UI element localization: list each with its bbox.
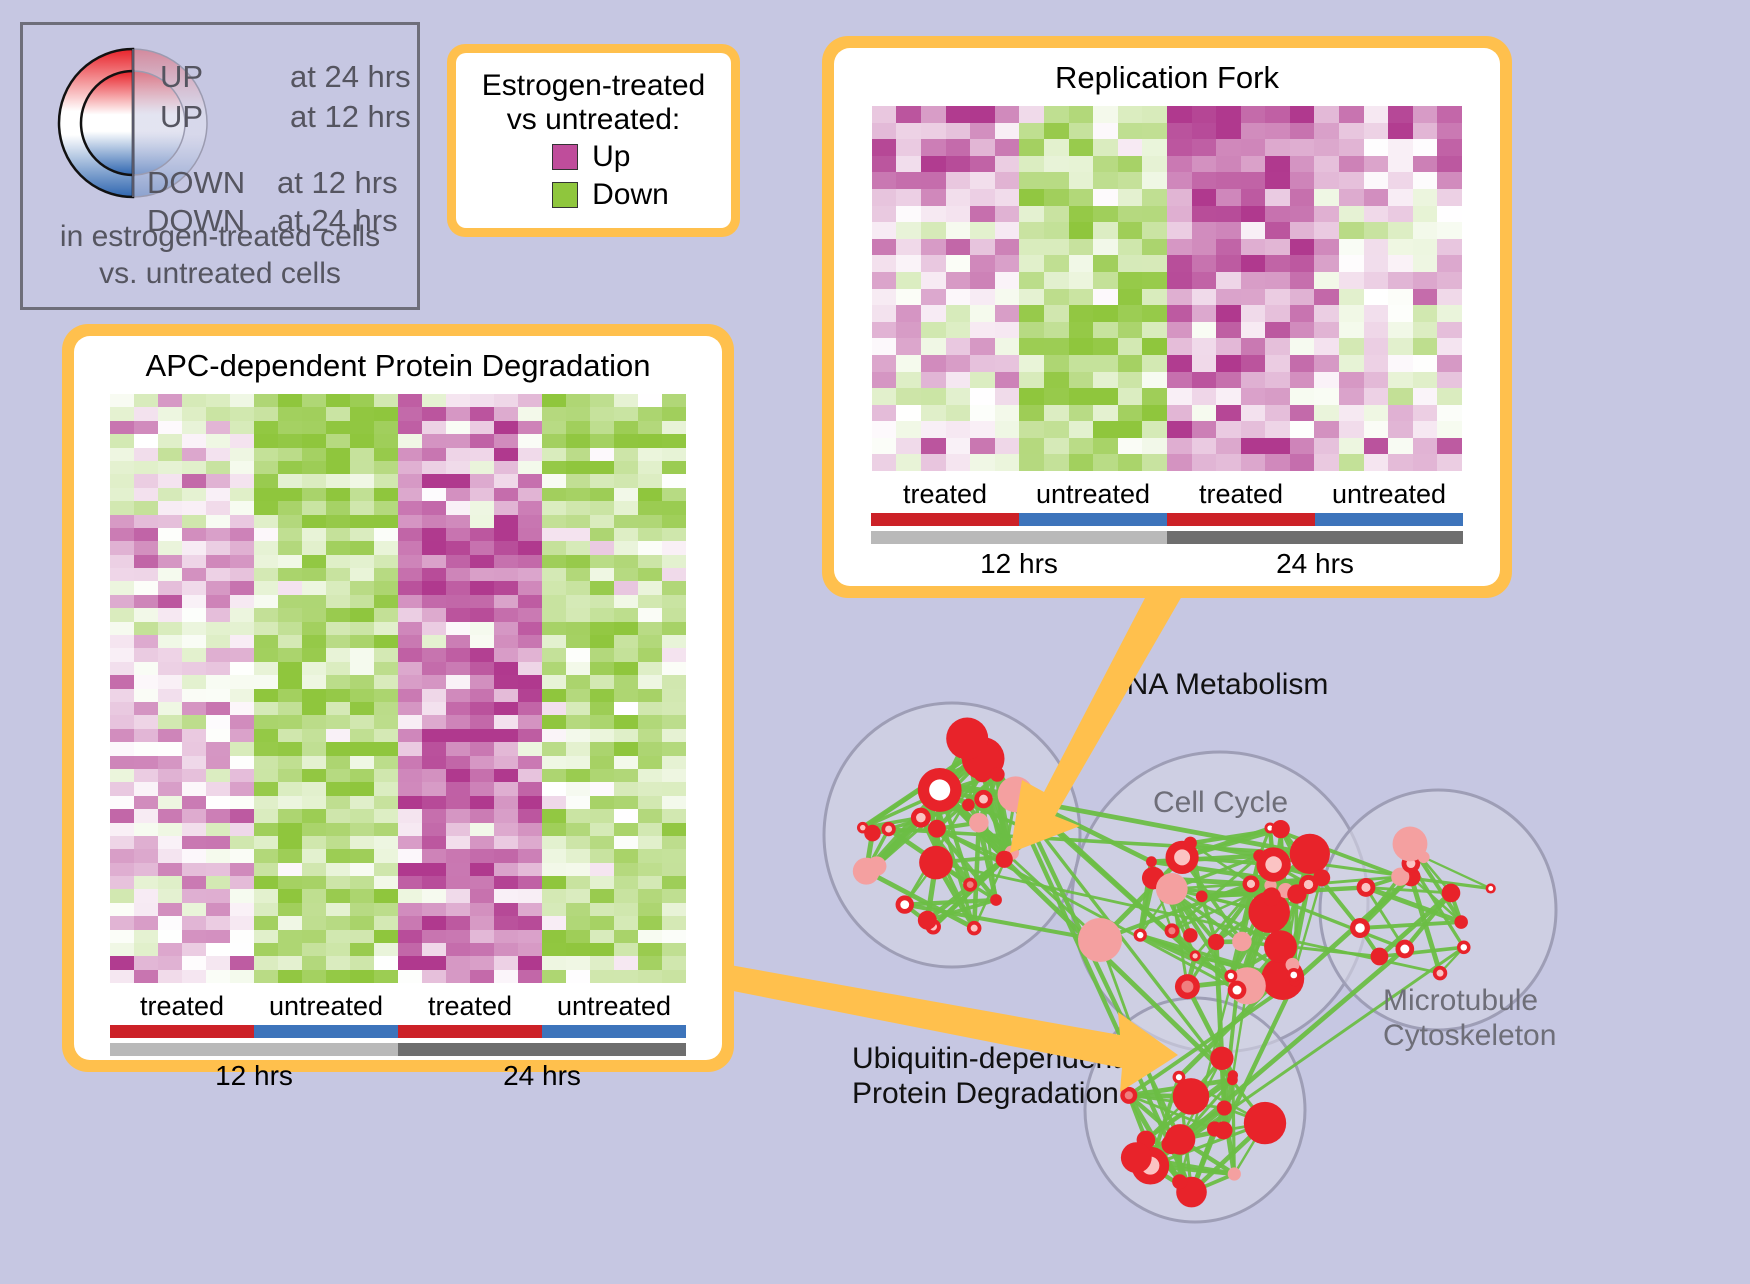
network-node: [1156, 873, 1188, 905]
heatmap-cell: [1437, 106, 1462, 123]
heatmap-cell: [590, 849, 614, 862]
heatmap-cell: [518, 943, 542, 956]
heatmap-cell: [422, 742, 446, 755]
heatmap-cell: [278, 742, 302, 755]
heatmap-cell: [1118, 172, 1143, 189]
heatmap-cell: [158, 956, 182, 969]
heatmap-cell: [350, 394, 374, 407]
heatmap-cell: [374, 782, 398, 795]
heatmap-cell: [1364, 355, 1389, 372]
heatmap-cell: [230, 916, 254, 929]
heatmap-cell: [158, 421, 182, 434]
heatmap-cell: [614, 729, 638, 742]
heatmap-cell: [374, 635, 398, 648]
heatmap-cell: [278, 394, 302, 407]
heatmap-cell: [1339, 172, 1364, 189]
heatmap-cell: [446, 648, 470, 661]
heatmap-cell: [302, 648, 326, 661]
heatmap-cell: [374, 622, 398, 635]
heatmap-cell: [230, 729, 254, 742]
heatmap-cell: [230, 836, 254, 849]
heatmap-cell: [896, 272, 921, 289]
heatmap-cell: [1142, 255, 1167, 272]
heatmap-cell: [422, 836, 446, 849]
heatmap-cell: [422, 515, 446, 528]
heatmap-cell: [350, 889, 374, 902]
heatmap-cell: [1364, 305, 1389, 322]
heatmap-cell: [158, 595, 182, 608]
heatmap-cell: [182, 635, 206, 648]
heatmap-cell: [590, 448, 614, 461]
heatmap-cell: [374, 956, 398, 969]
heatmap-cell: [278, 662, 302, 675]
heatmap-cell: [566, 836, 590, 849]
heatmap-cell: [254, 729, 278, 742]
network-node: [1262, 887, 1281, 906]
heatmap-cell: [518, 849, 542, 862]
heatmap-cell: [995, 123, 1020, 140]
heatmap-cell: [110, 541, 134, 554]
heatmap-cell: [302, 689, 326, 702]
heatmap-cell: [494, 729, 518, 742]
heatmap-cell: [1093, 305, 1118, 322]
heatmap-cell: [278, 675, 302, 688]
heatmap-cell: [446, 501, 470, 514]
heatmap-cell: [1044, 123, 1069, 140]
heatmap-cell: [1265, 139, 1290, 156]
heatmap-cell: [1118, 388, 1143, 405]
heatmap-cell: [1069, 454, 1094, 471]
heatmap-cell: [278, 930, 302, 943]
heatmap-cell: [1216, 289, 1241, 306]
heatmap-cell: [374, 729, 398, 742]
heatmap-cell: [302, 581, 326, 594]
heatmap-cell: [566, 461, 590, 474]
heatmap-cell: [230, 863, 254, 876]
heatmap-cell: [1167, 421, 1192, 438]
heatmap-cell: [872, 338, 897, 355]
heatmap-cell: [326, 823, 350, 836]
heatmap-cell: [230, 407, 254, 420]
heatmap-cell: [374, 849, 398, 862]
heatmap-cell: [446, 756, 470, 769]
heatmap-cell: [1142, 305, 1167, 322]
heatmap-cell: [542, 916, 566, 929]
heatmap-cell: [134, 742, 158, 755]
heatmap-cell: [422, 434, 446, 447]
heatmap-cell: [422, 662, 446, 675]
heatmap-cell: [230, 823, 254, 836]
heatmap-cell: [134, 823, 158, 836]
heatmap-cell: [1265, 421, 1290, 438]
heatmap-cell: [1388, 206, 1413, 223]
heatmap-cell: [1339, 322, 1364, 339]
heatmap-cell: [494, 541, 518, 554]
heatmap-cell: [1437, 206, 1462, 223]
heatmap-cell: [278, 421, 302, 434]
heatmap-cell: [398, 970, 422, 983]
heatmap-cell: [230, 648, 254, 661]
heatmap-cell: [614, 782, 638, 795]
heatmap-cell: [1167, 255, 1192, 272]
heatmap-cell: [374, 675, 398, 688]
heatmap-cell: [134, 689, 158, 702]
heatmap-cell: [1069, 222, 1094, 239]
heatmap-cell: [1265, 338, 1290, 355]
heatmap-cell: [518, 956, 542, 969]
heatmap-cell: [470, 916, 494, 929]
heatmap-cell: [110, 715, 134, 728]
heatmap-cell: [350, 448, 374, 461]
heatmap-cell: [494, 689, 518, 702]
heatmap-cell: [1167, 305, 1192, 322]
heatmap-cell: [422, 407, 446, 420]
heatmap-cell: [921, 189, 946, 206]
heatmap-cell: [1118, 123, 1143, 140]
heatmap-cell: [518, 836, 542, 849]
heatmap-cell: [494, 581, 518, 594]
heatmap-cell: [158, 635, 182, 648]
heatmap-cell: [302, 756, 326, 769]
network-node: [1217, 1100, 1232, 1115]
heatmap-cell: [350, 943, 374, 956]
heatmap-cell: [398, 581, 422, 594]
heatmap-cell: [1192, 405, 1217, 422]
heatmap-cell: [374, 407, 398, 420]
heatmap-cell: [158, 889, 182, 902]
heatmap-cell: [254, 943, 278, 956]
heatmap-cell: [422, 729, 446, 742]
heatmap-cell: [946, 355, 971, 372]
time-label: 24 hrs: [1167, 548, 1463, 580]
heatmap-cell: [590, 916, 614, 929]
heatmap-cell: [254, 488, 278, 501]
heatmap-cell: [1118, 222, 1143, 239]
heatmap-cell: [254, 608, 278, 621]
heatmap-cell: [638, 568, 662, 581]
heatmap-cell: [638, 407, 662, 420]
heatmap-cell: [896, 189, 921, 206]
heatmap-cell: [182, 756, 206, 769]
heatmap-cell: [134, 488, 158, 501]
heatmap-cell: [590, 943, 614, 956]
heatmap-cell: [1339, 305, 1364, 322]
heatmap-cell: [1167, 454, 1192, 471]
heatmap-cell: [494, 715, 518, 728]
heatmap-cell: [374, 796, 398, 809]
heatmap-cell: [1216, 239, 1241, 256]
heatmap-cell: [946, 454, 971, 471]
network-node: [1146, 856, 1157, 867]
heatmap-cell: [970, 156, 995, 173]
heatmap-cell: [1437, 255, 1462, 272]
heatmap-cell: [970, 106, 995, 123]
heatmap-cell: [1142, 355, 1167, 372]
heatmap-cell: [638, 662, 662, 675]
heatmap-cell: [1241, 454, 1266, 471]
heatmap-cell: [134, 407, 158, 420]
heatmap-cell: [614, 916, 638, 929]
heatmap-cell: [470, 876, 494, 889]
heatmap-cell: [158, 608, 182, 621]
heatmap-cell: [1142, 372, 1167, 389]
heatmap-cell: [350, 782, 374, 795]
network-node-core: [1304, 880, 1313, 889]
heatmap-cell: [1216, 156, 1241, 173]
heatmap-cell: [1314, 388, 1339, 405]
heatmap-cell: [302, 662, 326, 675]
heatmap-cell: [302, 889, 326, 902]
heatmap-cell: [662, 421, 686, 434]
heatmap-cell: [326, 702, 350, 715]
heatmap-cell: [230, 448, 254, 461]
heatmap-cell: [350, 501, 374, 514]
heatmap-cell: [1364, 123, 1389, 140]
heatmap-cell: [302, 622, 326, 635]
heatmap-cell: [422, 461, 446, 474]
heatmap-cell: [614, 903, 638, 916]
heatmap-cell: [374, 595, 398, 608]
heatmap-cell: [872, 239, 897, 256]
heatmap-cell: [1437, 355, 1462, 372]
heatmap-cell: [590, 555, 614, 568]
heatmap-cell: [182, 916, 206, 929]
heatmap-cell: [590, 836, 614, 849]
heatmap-cell: [1044, 305, 1069, 322]
heatmap-cell: [278, 568, 302, 581]
heatmap-cell: [1265, 289, 1290, 306]
heatmap-cell: [254, 916, 278, 929]
heatmap-cell: [970, 289, 995, 306]
heatmap-cell: [1413, 305, 1438, 322]
network-node-core: [1233, 986, 1242, 995]
heatmap-cell: [470, 742, 494, 755]
heatmap-cell: [350, 461, 374, 474]
heatmap-cell: [1314, 405, 1339, 422]
panel-title: APC-dependent Protein Degradation: [146, 348, 651, 384]
heatmap-cell: [326, 528, 350, 541]
heatmap-cell: [1388, 222, 1413, 239]
heatmap-cell: [1314, 421, 1339, 438]
heatmap-cell: [542, 581, 566, 594]
heatmap-cell: [1118, 289, 1143, 306]
heatmap-cell: [1167, 338, 1192, 355]
heatmap-cell: [1265, 156, 1290, 173]
heatmap-cell: [134, 756, 158, 769]
heatmap-cell: [470, 729, 494, 742]
heatmap-cell: [1093, 372, 1118, 389]
heatmap-cell: [638, 541, 662, 554]
heatmap-cell: [494, 702, 518, 715]
heatmap-cell: [946, 289, 971, 306]
heatmap-cell: [494, 394, 518, 407]
heatmap-cell: [134, 916, 158, 929]
heatmap-cell: [350, 608, 374, 621]
heatmap-cell: [182, 956, 206, 969]
heatmap-cell: [206, 675, 230, 688]
heatmap-cell: [921, 388, 946, 405]
heatmap-cell: [1364, 156, 1389, 173]
heatmap-cell: [206, 581, 230, 594]
heatmap-cell: [398, 501, 422, 514]
heatmap-axis: treated untreated treated untreated 12 h…: [110, 991, 686, 1092]
heatmap-cell: [1413, 222, 1438, 239]
heatmap-cell: [182, 461, 206, 474]
heatmap-cell: [494, 876, 518, 889]
heatmap-cell: [182, 515, 206, 528]
heatmap-cell: [230, 515, 254, 528]
heatmap-cell: [494, 916, 518, 929]
heatmap-cell: [494, 769, 518, 782]
network-node-core: [1361, 883, 1370, 892]
heatmap-cell: [566, 715, 590, 728]
heatmap-cell: [518, 876, 542, 889]
heatmap-cell: [206, 930, 230, 943]
heatmap-cell: [158, 581, 182, 594]
heatmap-cell: [896, 156, 921, 173]
heatmap-cell: [182, 782, 206, 795]
heatmap-cell: [1019, 222, 1044, 239]
heatmap-cell: [446, 863, 470, 876]
heatmap-cell: [254, 648, 278, 661]
heatmap-cell: [470, 956, 494, 969]
heatmap-cell: [110, 863, 134, 876]
heatmap-cell: [1118, 272, 1143, 289]
heatmap-cell: [254, 675, 278, 688]
network-node: [1196, 891, 1208, 903]
heatmap-cell: [398, 394, 422, 407]
heatmap-cell: [254, 876, 278, 889]
heatmap-cell: [872, 305, 897, 322]
heatmap-cell: [326, 421, 350, 434]
network-node-core: [1400, 945, 1409, 954]
heatmap-cell: [470, 608, 494, 621]
heatmap-cell: [422, 782, 446, 795]
down-swatch-icon: [552, 182, 578, 208]
heatmap-cell: [1019, 454, 1044, 471]
heatmap-cell: [1216, 322, 1241, 339]
heatmap-cell: [254, 662, 278, 675]
heatmap-cell: [158, 863, 182, 876]
heatmap-cell: [662, 595, 686, 608]
heatmap-cell: [566, 742, 590, 755]
heatmap-cell: [110, 970, 134, 983]
heatmap-cell: [134, 635, 158, 648]
heatmap-cell: [946, 156, 971, 173]
heatmap-cell: [995, 189, 1020, 206]
heatmap-cell: [1044, 289, 1069, 306]
heatmap-cell: [302, 916, 326, 929]
heatmap-cell: [254, 581, 278, 594]
heatmap-cell: [946, 206, 971, 223]
heatmap-cell: [1290, 123, 1315, 140]
heatmap-cell: [1388, 172, 1413, 189]
heatmap-cell: [872, 322, 897, 339]
heatmap-cell: [422, 608, 446, 621]
heatmap-cell: [1093, 189, 1118, 206]
heatmap-cell: [872, 189, 897, 206]
heatmap-cell: [374, 863, 398, 876]
heatmap-cell: [1192, 388, 1217, 405]
heatmap-cell: [1019, 123, 1044, 140]
heatmap-cell: [182, 501, 206, 514]
heatmap-cell: [398, 421, 422, 434]
heatmap-cell: [1437, 272, 1462, 289]
heatmap-cell: [1044, 206, 1069, 223]
network-node: [1228, 1167, 1241, 1180]
heatmap-cell: [1093, 172, 1118, 189]
heatmap-cell: [158, 434, 182, 447]
heatmap-cell: [590, 501, 614, 514]
heatmap-cell: [422, 863, 446, 876]
heatmap-cell: [542, 568, 566, 581]
heatmap-cell: [518, 541, 542, 554]
heatmap-cell: [542, 943, 566, 956]
heatmap-cell: [1413, 189, 1438, 206]
network-node: [928, 820, 946, 838]
heatmap-cell: [1241, 388, 1266, 405]
heatmap-cell: [638, 501, 662, 514]
heatmap-cell: [1314, 272, 1339, 289]
heatmap-cell: [470, 930, 494, 943]
heatmap-cell: [134, 528, 158, 541]
network-node: [1173, 1078, 1210, 1115]
legend-item-down: Down: [552, 178, 669, 212]
heatmap-cell: [1437, 322, 1462, 339]
heatmap-cell: [1364, 372, 1389, 389]
heatmap-cell: [518, 568, 542, 581]
heatmap-cell: [158, 622, 182, 635]
heatmap-cell: [542, 702, 566, 715]
heatmap-cell: [446, 421, 470, 434]
heatmap-cell: [158, 528, 182, 541]
heatmap-cell: [518, 796, 542, 809]
heatmap-cell: [158, 675, 182, 688]
heatmap-cell: [350, 488, 374, 501]
heatmap-cell: [1290, 372, 1315, 389]
heatmap-apc: [110, 394, 686, 983]
network-node: [1232, 932, 1252, 952]
heatmap-cell: [302, 769, 326, 782]
heatmap-cell: [1364, 239, 1389, 256]
network-node-core: [1137, 932, 1143, 938]
heatmap-cell: [566, 662, 590, 675]
heatmap-cell: [566, 916, 590, 929]
heatmap-cell: [921, 272, 946, 289]
heatmap-cell: [1167, 388, 1192, 405]
heatmap-cell: [1142, 222, 1167, 239]
heatmap-cell: [1241, 139, 1266, 156]
heatmap-cell: [1142, 123, 1167, 140]
heatmap-cell: [1413, 322, 1438, 339]
heatmap-cell: [254, 863, 278, 876]
heatmap-cell: [230, 635, 254, 648]
heatmap-cell: [662, 796, 686, 809]
network-node-core: [1176, 1074, 1182, 1080]
heatmap-cell: [110, 809, 134, 822]
heatmap-cell: [230, 769, 254, 782]
heatmap-cell: [1093, 338, 1118, 355]
heatmap-cell: [470, 568, 494, 581]
heatmap-cell: [1019, 438, 1044, 455]
heatmap-cell: [398, 930, 422, 943]
heatmap-cell: [638, 769, 662, 782]
heatmap-cell: [446, 742, 470, 755]
heatmap-cell: [350, 863, 374, 876]
heatmap-cell: [566, 541, 590, 554]
heatmap-cell: [1069, 305, 1094, 322]
heatmap-cell: [134, 434, 158, 447]
